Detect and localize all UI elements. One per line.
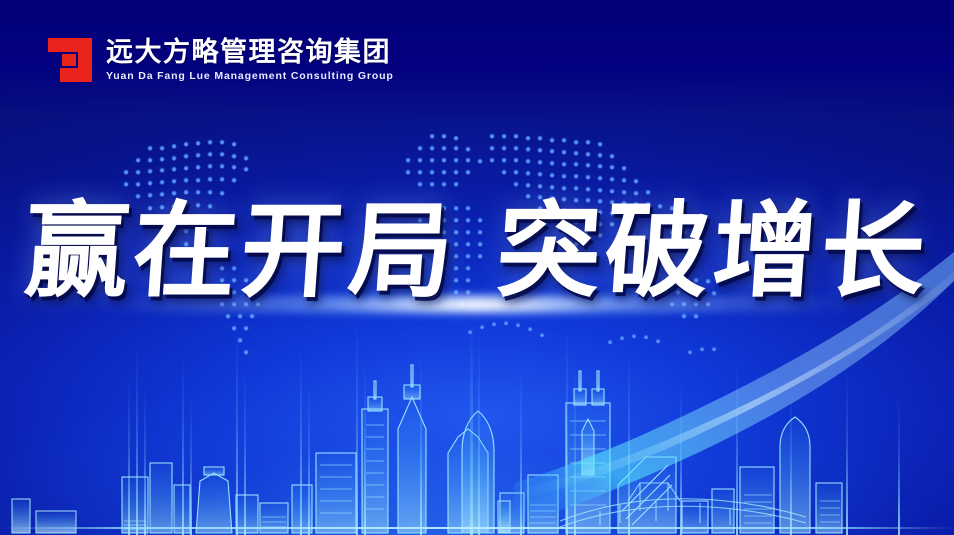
slide-canvas: 远大方略管理咨询集团 Yuan Da Fang Lue Management C…: [0, 0, 954, 535]
company-name-en: Yuan Da Fang Lue Management Consulting G…: [106, 69, 394, 83]
logo-text-block: 远大方略管理咨询集团 Yuan Da Fang Lue Management C…: [106, 37, 394, 83]
logo-square-spiral-icon: [46, 36, 94, 84]
company-name-cn: 远大方略管理咨询集团: [106, 37, 394, 67]
horizon-baseline: [0, 527, 954, 529]
company-logo[interactable]: 远大方略管理咨询集团 Yuan Da Fang Lue Management C…: [46, 36, 394, 84]
headline-part-2: 突破增长: [493, 195, 933, 307]
headline-part-1: 赢在开局: [21, 195, 461, 307]
headline-inner: 赢在开局 突破增长: [25, 195, 929, 307]
headline-block: 赢在开局 突破增长: [0, 186, 954, 316]
